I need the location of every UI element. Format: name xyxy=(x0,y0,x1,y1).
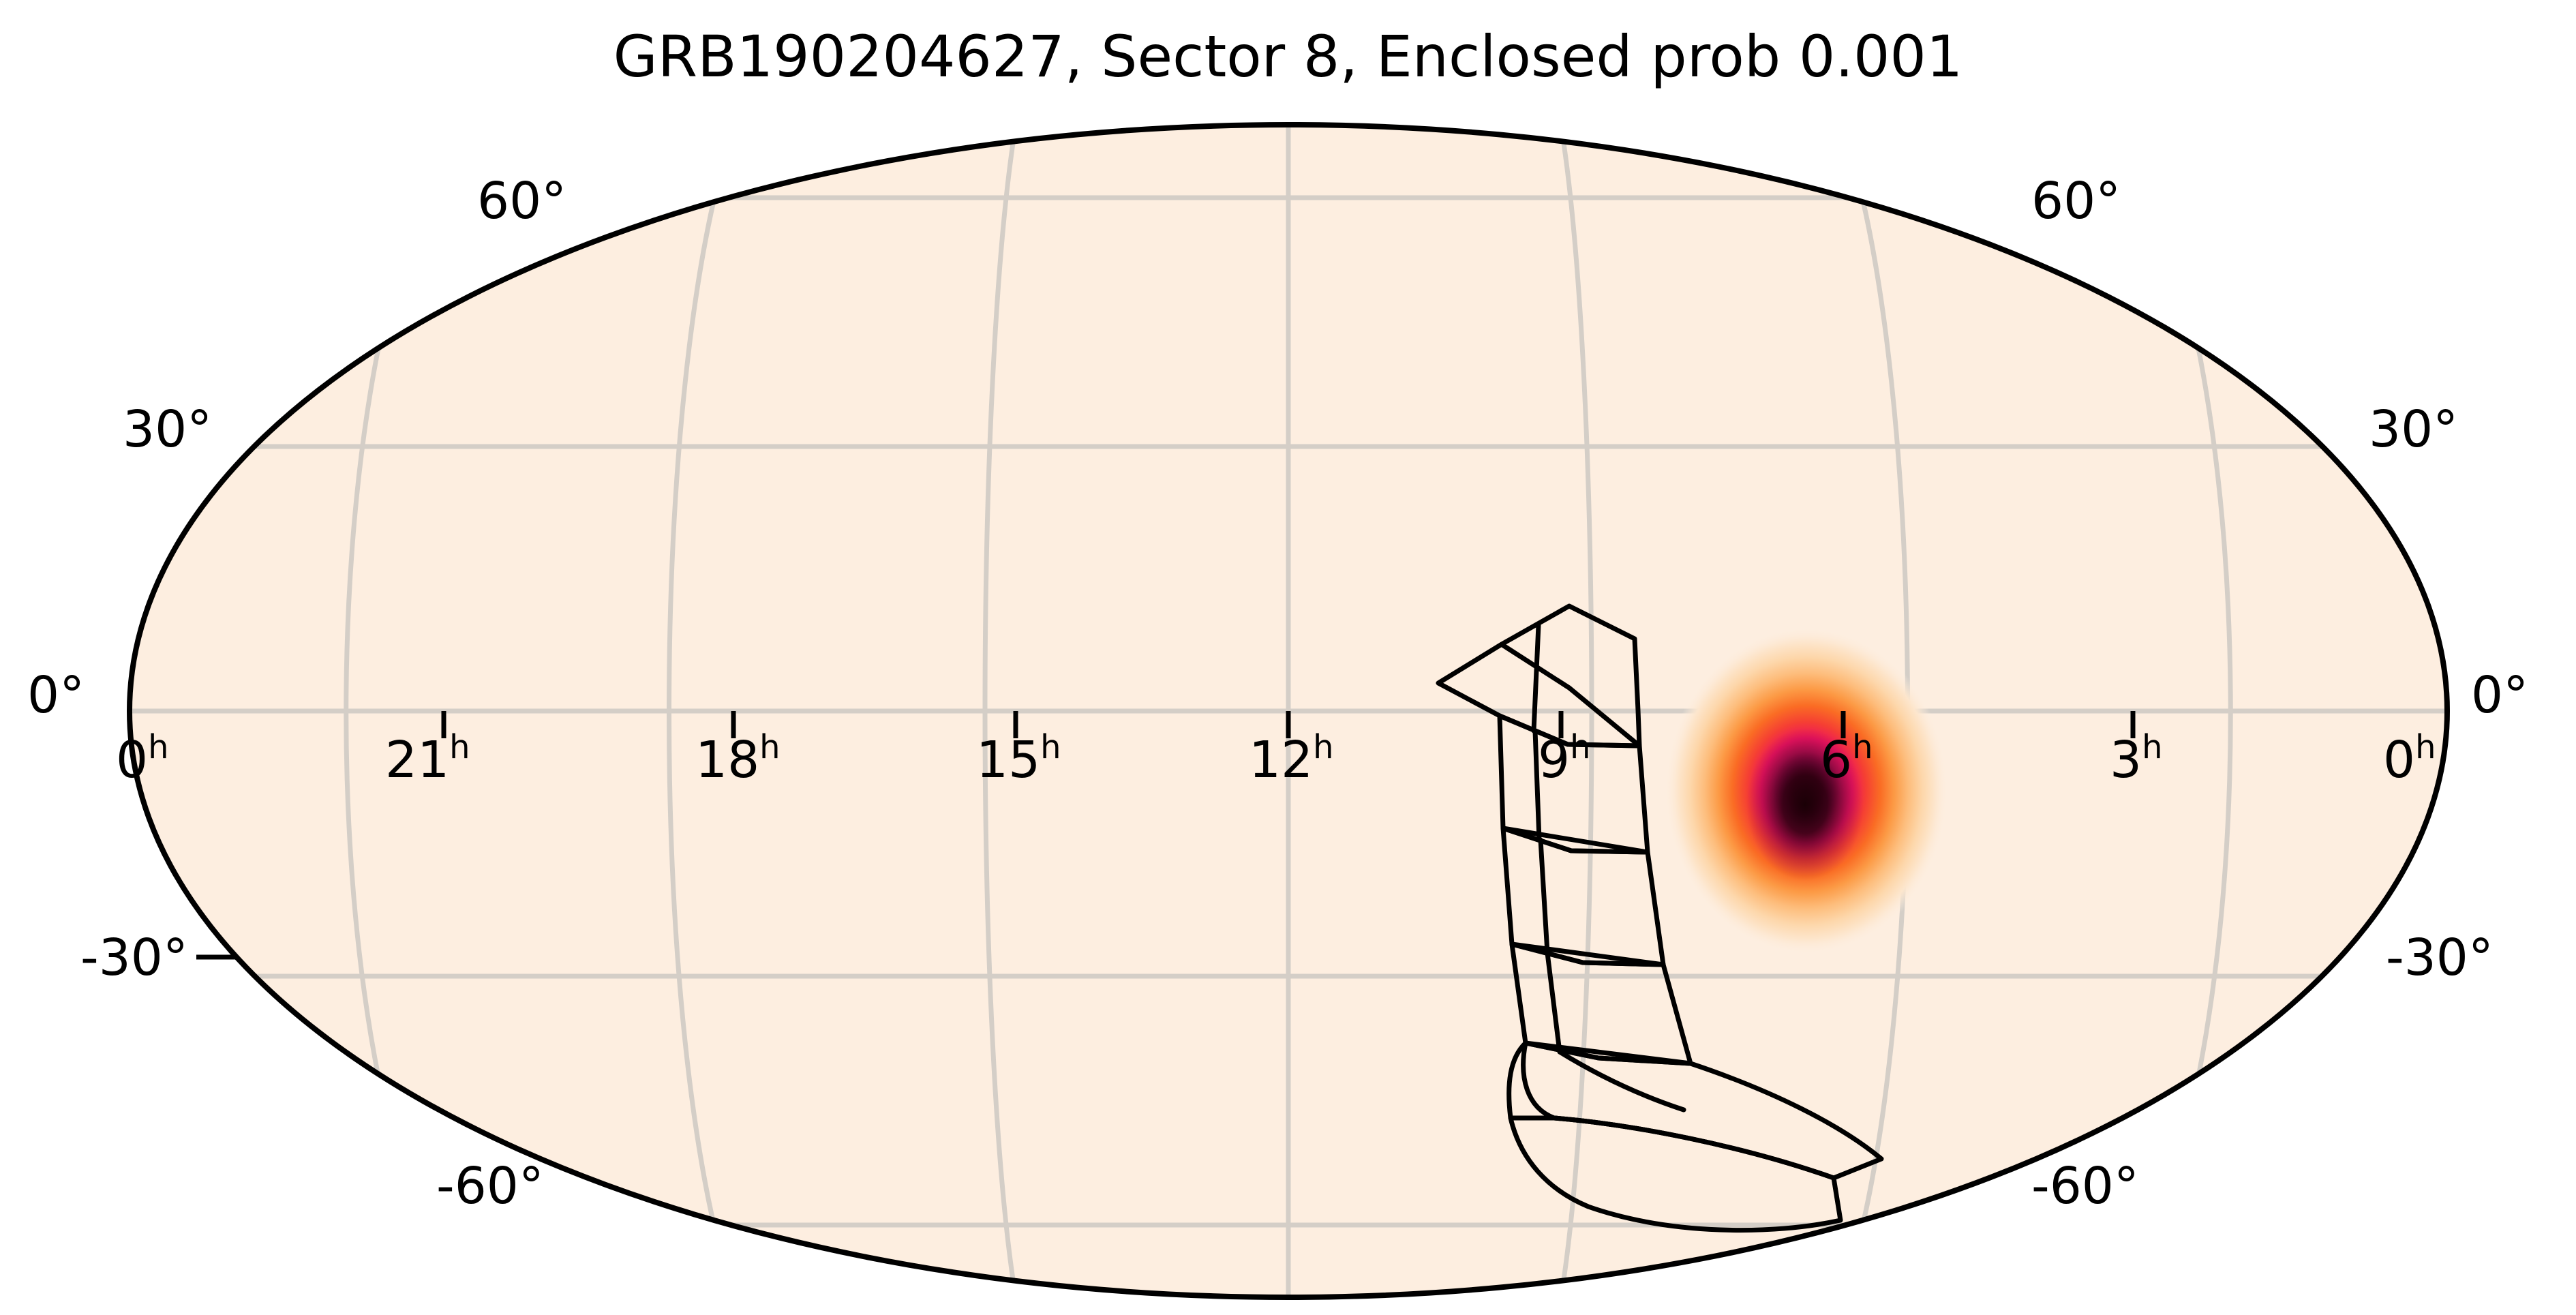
ra-label-21h-value: 21 xyxy=(385,731,449,789)
grb-localization-probability-blob xyxy=(1665,627,1948,954)
ra-label-9h-value: 9 xyxy=(1538,731,1570,789)
ra-label-12h-unit: h xyxy=(1313,728,1333,766)
dec-label-right-minus-30: -30° xyxy=(2386,928,2494,987)
ra-label-0h-right-value: 0 xyxy=(2383,731,2415,789)
ra-label-9h-unit: h xyxy=(1570,728,1590,766)
ra-label-6h-unit: h xyxy=(1852,728,1873,766)
dec-label-right-30: 30° xyxy=(2369,400,2458,459)
ra-label-0h-right-unit: h xyxy=(2415,728,2436,766)
ra-label-6h-value: 6 xyxy=(1820,731,1852,789)
ra-label-3h-unit: h xyxy=(2142,728,2162,766)
ra-label-12h-value: 12 xyxy=(1249,731,1313,789)
ra-label-21h-unit: h xyxy=(449,728,470,766)
dec-label-left-minus-60: -60° xyxy=(436,1157,544,1215)
ra-label-18h-value: 18 xyxy=(695,731,759,789)
ra-label-18h-unit: h xyxy=(759,728,780,766)
dec-label-left-60: 60° xyxy=(477,172,566,230)
figure-canvas: GRB190204627, Sector 8, Enclosed prob 0.… xyxy=(0,0,2576,1315)
ra-label-0h-left-unit: h xyxy=(148,728,168,766)
dec-label-right-minus-60: -60° xyxy=(2031,1157,2139,1215)
dec-label-left-0: 0° xyxy=(27,666,85,725)
dec-label-left-30: 30° xyxy=(123,400,212,459)
dec-label-right-0: 0° xyxy=(2471,666,2528,725)
dec-label-right-60: 60° xyxy=(2031,172,2121,230)
ra-label-15h-value: 15 xyxy=(976,731,1040,789)
dec-label-left-minus-30: -30° xyxy=(80,928,188,987)
ra-label-0h-left-value: 0 xyxy=(116,731,148,789)
mollweide-sky-map: 60° 30° 0° -30° -60° 60° 30° 0° -30° -60… xyxy=(0,0,2576,1315)
ra-label-3h-value: 3 xyxy=(2110,731,2142,789)
ra-label-15h-unit: h xyxy=(1040,728,1061,766)
